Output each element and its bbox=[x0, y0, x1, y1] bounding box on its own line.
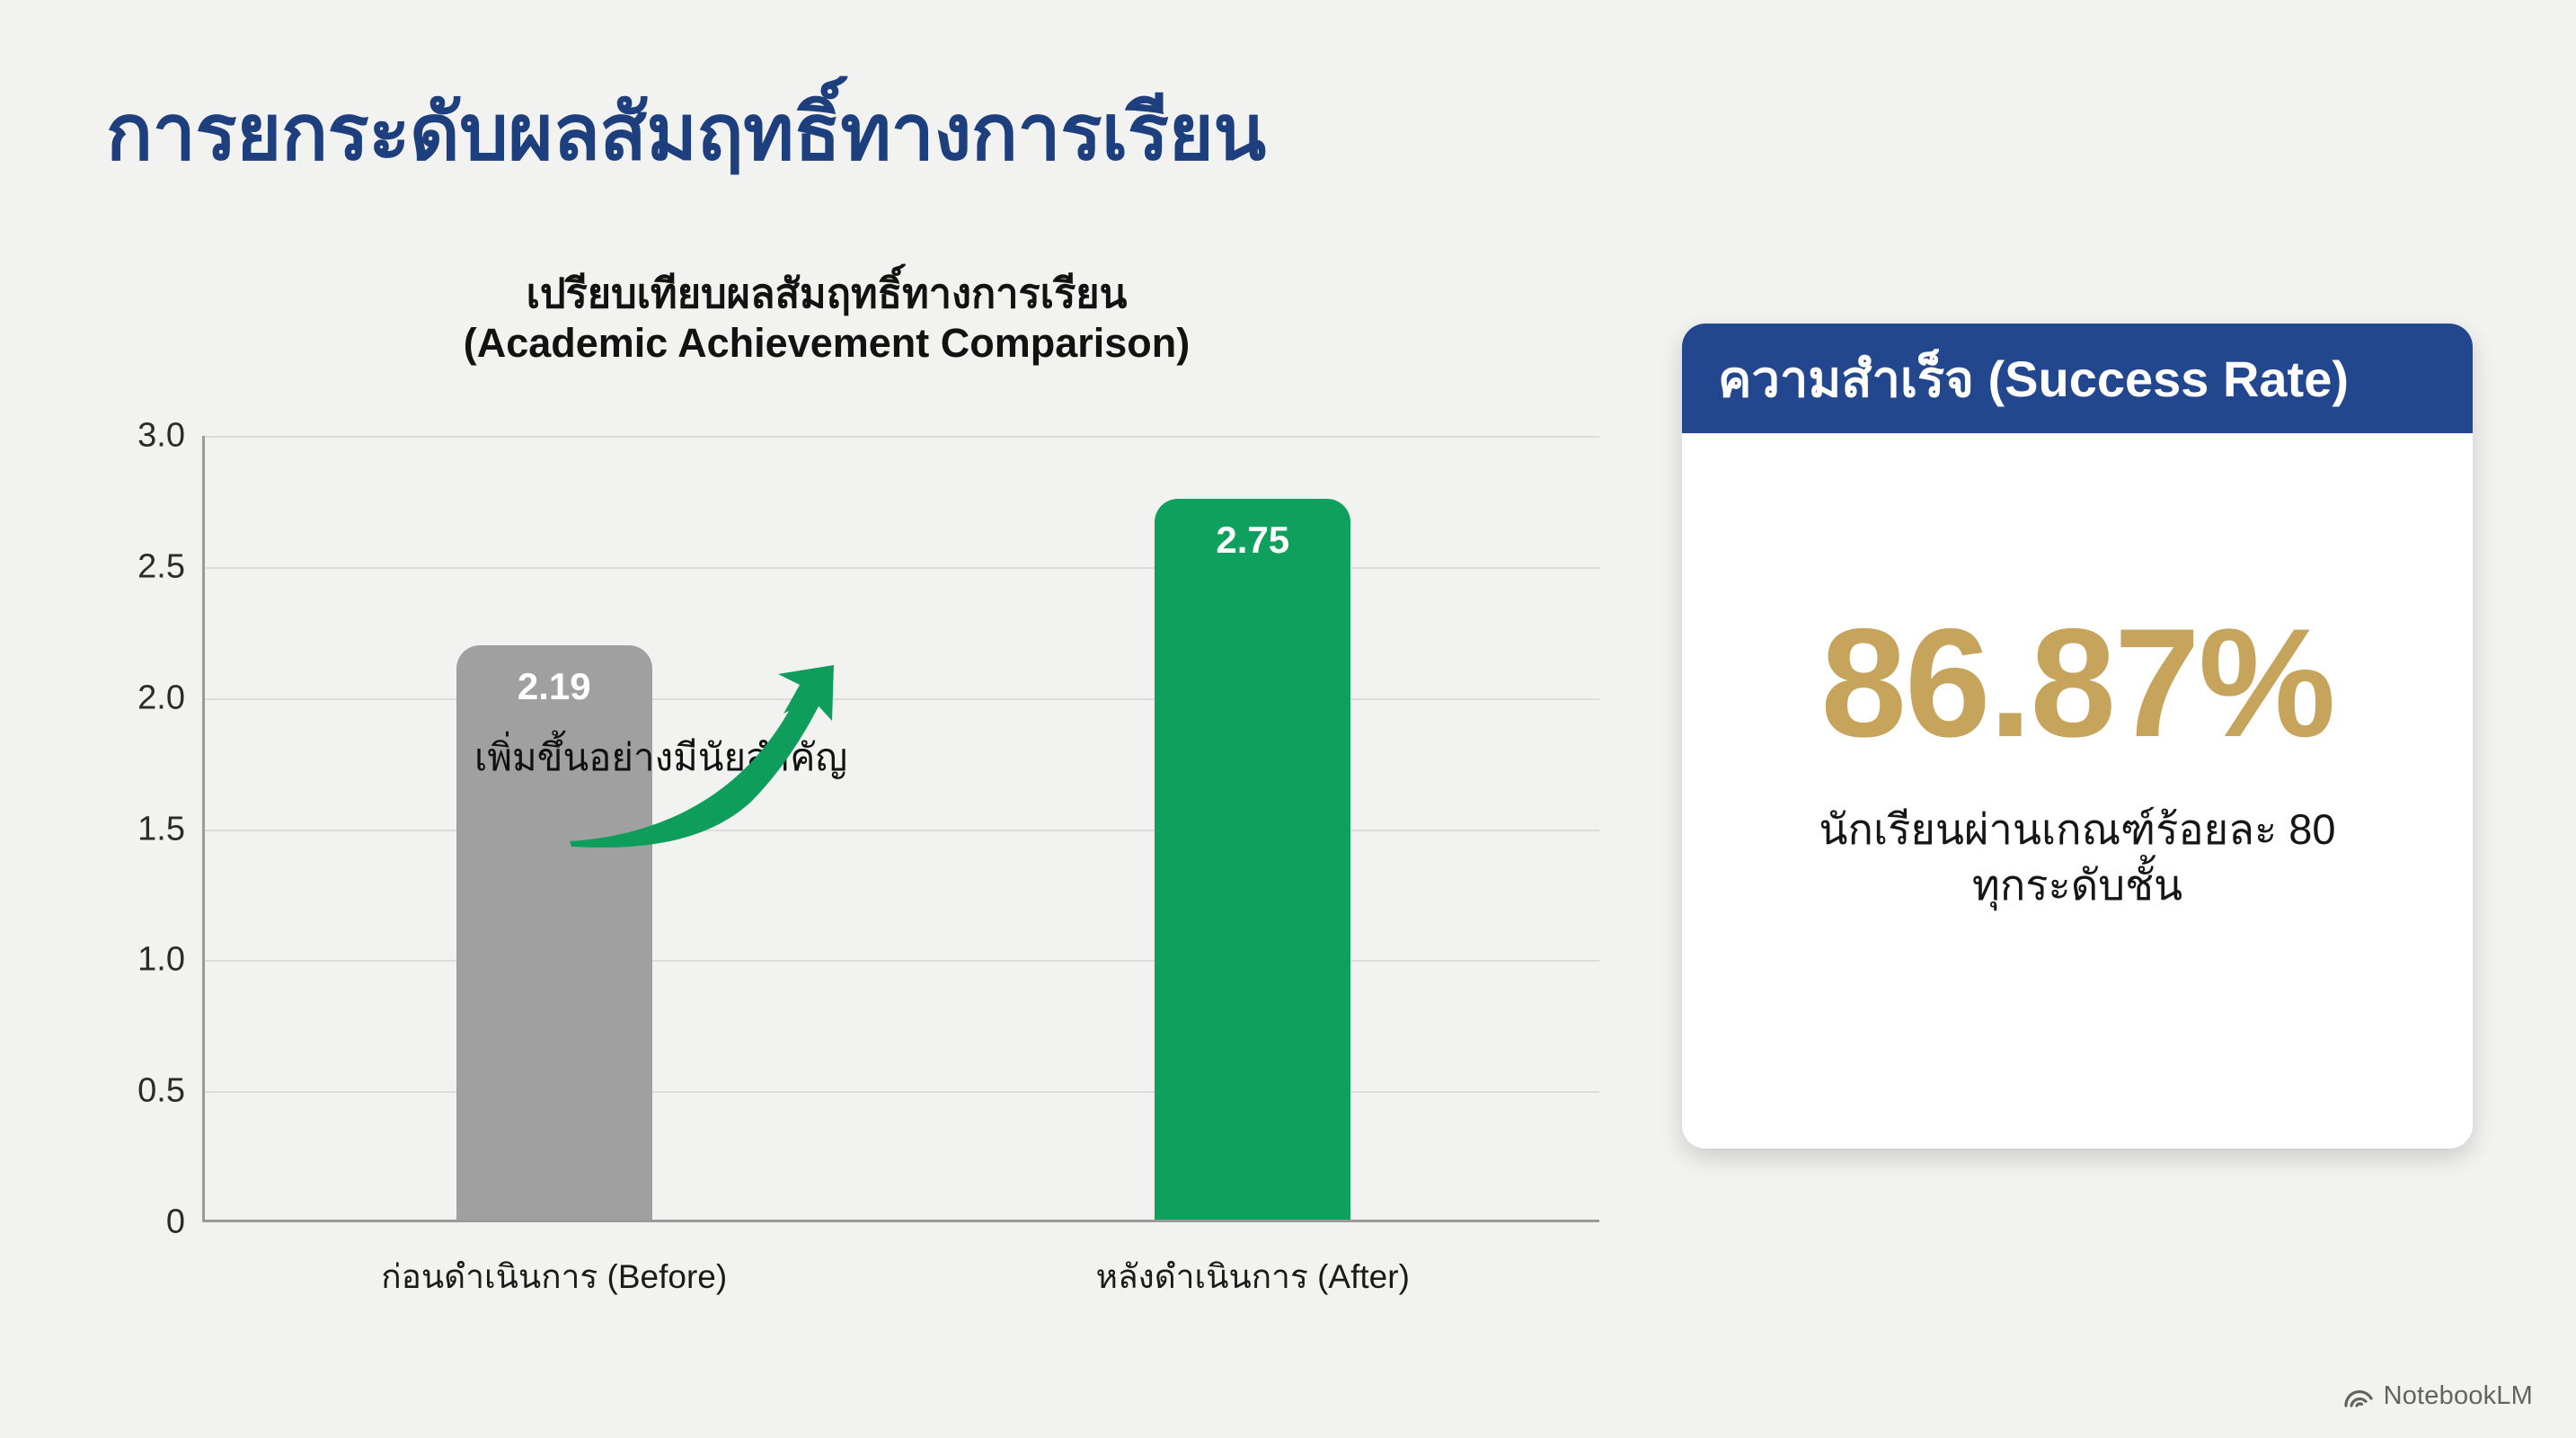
success-card-header: ความสำเร็จ (Success Rate) bbox=[1682, 324, 2473, 433]
success-rate-caption: นักเรียนผ่านเกณฑ์ร้อยละ 80 ทุกระดับชั้น bbox=[1819, 802, 2335, 913]
success-caption-line1: นักเรียนผ่านเกณฑ์ร้อยละ 80 bbox=[1819, 805, 2335, 853]
y-axis-tick-label: 0 bbox=[166, 1203, 185, 1242]
success-rate-value: 86.87% bbox=[1820, 606, 2333, 760]
growth-arrow-icon bbox=[564, 665, 888, 845]
chart-plot-area: 3.02.52.01.51.00.50 2.19ก่อนดำเนินการ (B… bbox=[202, 436, 1599, 1222]
y-axis-tick-label: 2.0 bbox=[137, 679, 185, 717]
gridline bbox=[205, 1091, 1599, 1093]
y-axis-tick-label: 1.5 bbox=[137, 810, 185, 848]
notebooklm-arc-icon bbox=[2344, 1385, 2375, 1408]
success-caption-line2: ทุกระดับชั้น bbox=[1819, 857, 2335, 913]
success-card-header-title: ความสำเร็จ (Success Rate) bbox=[1718, 339, 2349, 419]
bar-value-label: 2.75 bbox=[1155, 519, 1350, 562]
page-title: การยกระดับผลสัมฤทธิ์ทางการเรียน bbox=[106, 70, 1266, 193]
y-axis-tick-label: 1.0 bbox=[137, 941, 185, 980]
y-axis-tick-label: 0.5 bbox=[137, 1072, 185, 1111]
bar-chart-panel: เปรียบเทียบผลสัมฤทธิ์ทางการเรียน (Academ… bbox=[81, 270, 1608, 1285]
bar: 2.75 bbox=[1155, 499, 1350, 1220]
y-axis-tick-label: 2.5 bbox=[137, 547, 185, 586]
gridline bbox=[205, 436, 1599, 438]
y-axis-tick-label: 3.0 bbox=[137, 417, 185, 456]
x-axis-category-label: ก่อนดำเนินการ (Before) bbox=[205, 1250, 904, 1303]
x-axis-category-label: หลังดำเนินการ (After) bbox=[904, 1250, 1603, 1303]
success-card-body: 86.87% นักเรียนผ่านเกณฑ์ร้อยละ 80 ทุกระด… bbox=[1682, 433, 2473, 1149]
notebooklm-watermark-label: NotebookLM bbox=[2384, 1381, 2533, 1411]
chart-title: เปรียบเทียบผลสัมฤทธิ์ทางการเรียน (Academ… bbox=[243, 270, 1411, 368]
gridline bbox=[205, 567, 1599, 569]
success-rate-card: ความสำเร็จ (Success Rate) 86.87% นักเรีย… bbox=[1682, 324, 2473, 1149]
gridline bbox=[205, 960, 1599, 962]
gridline bbox=[205, 698, 1599, 700]
gridline bbox=[205, 830, 1599, 831]
chart-title-english: (Academic Achievement Comparison) bbox=[243, 319, 1411, 368]
notebooklm-watermark: NotebookLM bbox=[2344, 1381, 2533, 1411]
chart-title-thai: เปรียบเทียบผลสัมฤทธิ์ทางการเรียน bbox=[527, 271, 1128, 316]
